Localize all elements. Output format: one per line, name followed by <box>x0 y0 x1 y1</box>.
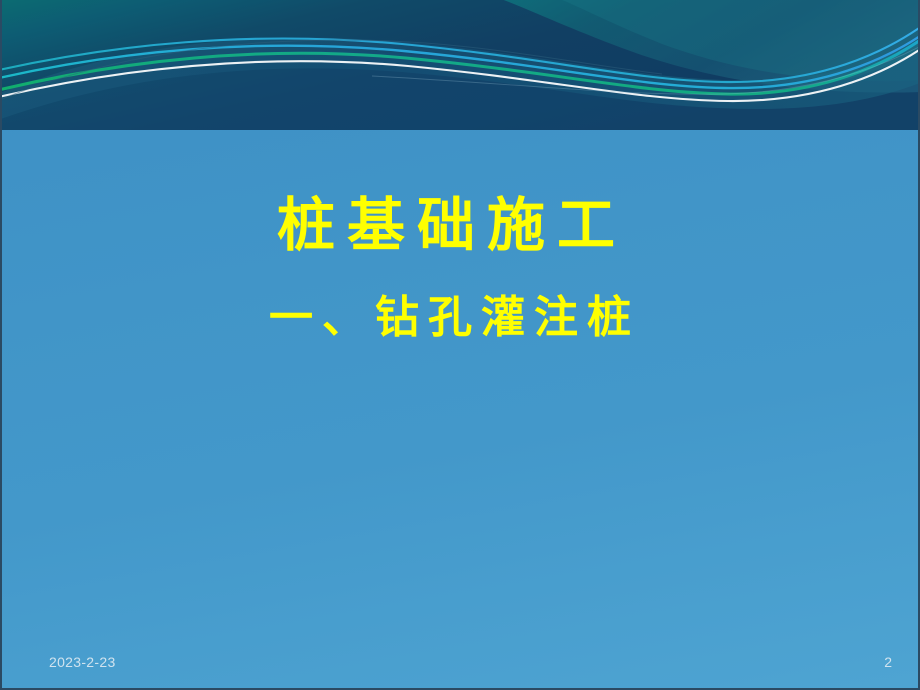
wave-line-white <box>2 30 920 101</box>
wave-shape-midband <box>2 34 920 122</box>
decorative-wave-header <box>2 0 920 130</box>
wave-shape-teal <box>472 0 920 93</box>
page-title: 桩基础施工 <box>0 196 906 257</box>
wave-line-outline <box>2 40 662 104</box>
title-block: 桩基础施工 一、钻孔灌注桩 <box>2 196 920 341</box>
wave-shape-lower-body <box>2 44 920 130</box>
wave-shape-teal-soft <box>562 0 920 81</box>
wave-line-pale <box>372 40 920 94</box>
presentation-slide: 桩基础施工 一、钻孔灌注桩 2023-2-23 2 <box>0 0 920 690</box>
footer-date: 2023-2-23 <box>49 654 116 670</box>
page-subtitle: 一、钻孔灌注桩 <box>0 295 910 341</box>
wave-line-cyan-lower <box>2 20 920 88</box>
footer-page-number: 2 <box>884 654 892 670</box>
wave-line-green <box>2 22 920 94</box>
wave-line-cyan-upper <box>2 14 920 82</box>
